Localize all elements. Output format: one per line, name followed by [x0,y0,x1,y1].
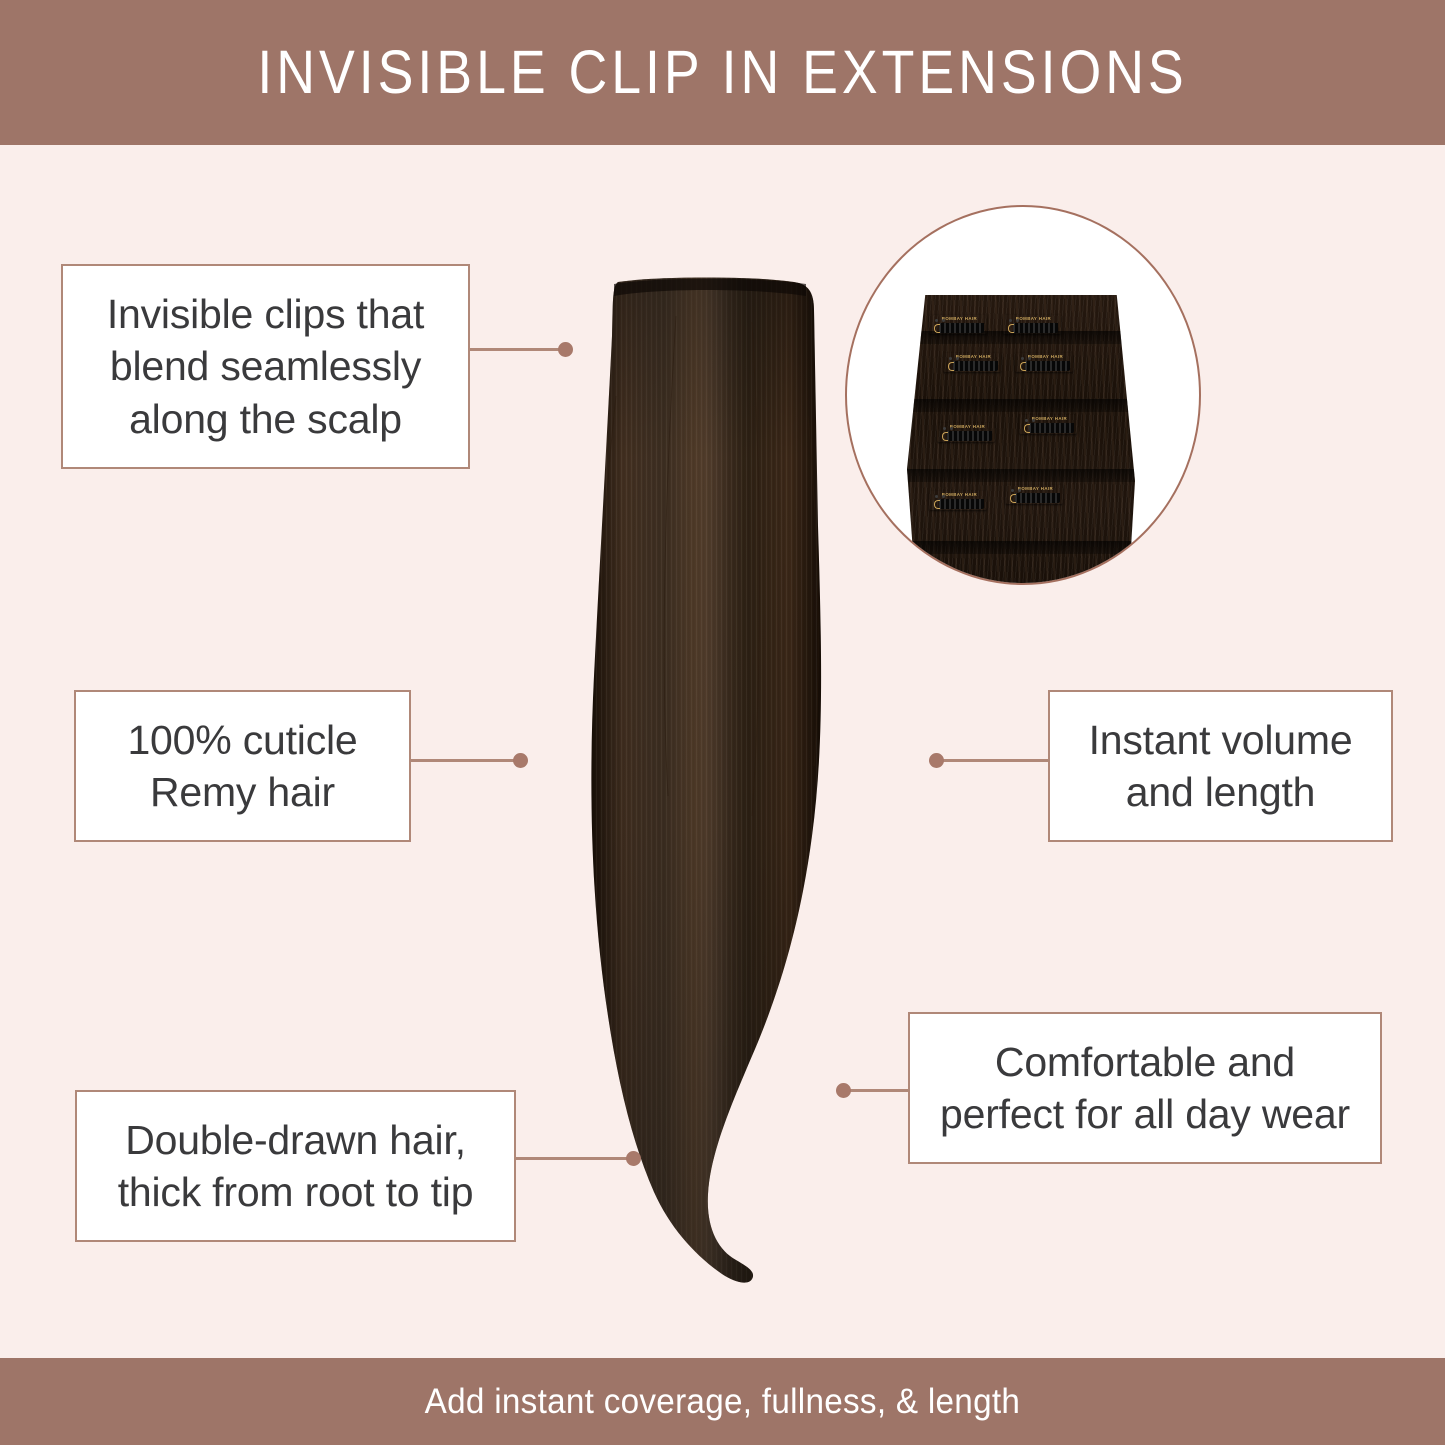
footer-band: Add instant coverage, fullness, & length [0,1358,1445,1445]
callout-instant-volume: Instant volume and length [1048,690,1393,842]
clip-brand-label: BOMBAY HAIR [950,424,985,429]
weft-band [898,469,1144,482]
hair-clip: BOMBAY HAIR [1003,315,1061,334]
infographic-poster: INVISIBLE CLIP IN EXTENSIONS [0,0,1445,1445]
connector-dot-all-day-wear [836,1083,851,1098]
hair-clip: BOMBAY HAIR [929,315,987,334]
connector-dot-double-drawn [626,1151,641,1166]
connector-dot-invisible-clips [558,342,573,357]
hair-bundle-graphic [556,276,896,1286]
hair-extension-bundle-image [556,276,896,1286]
callout-all-day-wear: Comfortable and perfect for all day wear [908,1012,1382,1164]
callout-text: Double-drawn hair, thick from root to ti… [118,1114,474,1218]
callout-cuticle-remy: 100% cuticle Remy hair [74,690,411,842]
page-title: INVISIBLE CLIP IN EXTENSIONS [257,42,1187,103]
clip-set-photo: BOMBAY HAIR BOMBAY HAIR BOMBAY HAIR [907,295,1135,585]
connector-line-cuticle-remy [411,759,521,762]
connector-line-instant-volume [936,759,1050,762]
connector-line-invisible-clips [470,348,566,351]
clip-brand-label: BOMBAY HAIR [1028,354,1063,359]
connector-dot-cuticle-remy [513,753,528,768]
hair-silhouette [591,278,821,1283]
connector-line-all-day-wear [843,1089,910,1092]
hair-clip: BOMBAY HAIR [1015,353,1073,372]
weft-band [898,541,1144,554]
clip-brand-label: BOMBAY HAIR [1032,416,1067,421]
clip-detail-circle: BOMBAY HAIR BOMBAY HAIR BOMBAY HAIR [845,205,1201,585]
hair-clip: BOMBAY HAIR [943,353,1001,372]
callout-invisible-clips: Invisible clips that blend seamlessly al… [61,264,470,469]
clip-brand-label: BOMBAY HAIR [942,316,977,321]
clip-brand-label: BOMBAY HAIR [1016,316,1051,321]
callout-text: Invisible clips that blend seamlessly al… [107,288,424,444]
callout-text: Comfortable and perfect for all day wear [940,1036,1350,1140]
callout-text: 100% cuticle Remy hair [127,714,357,818]
connector-line-double-drawn [516,1157,634,1160]
callout-text: Instant volume and length [1089,714,1353,818]
hair-clip: BOMBAY HAIR [929,491,987,510]
weft-band [898,399,1144,412]
footer-tagline: Add instant coverage, fullness, & length [425,1382,1020,1422]
clip-brand-label: BOMBAY HAIR [1018,486,1053,491]
connector-dot-instant-volume [929,753,944,768]
callout-double-drawn: Double-drawn hair, thick from root to ti… [75,1090,516,1242]
hair-clip: BOMBAY HAIR [1019,415,1077,434]
hair-clip: BOMBAY HAIR [937,423,995,442]
clip-brand-label: BOMBAY HAIR [956,354,991,359]
clip-brand-label: BOMBAY HAIR [942,492,977,497]
header-band: INVISIBLE CLIP IN EXTENSIONS [0,0,1445,145]
hair-clip: BOMBAY HAIR [1005,485,1063,504]
